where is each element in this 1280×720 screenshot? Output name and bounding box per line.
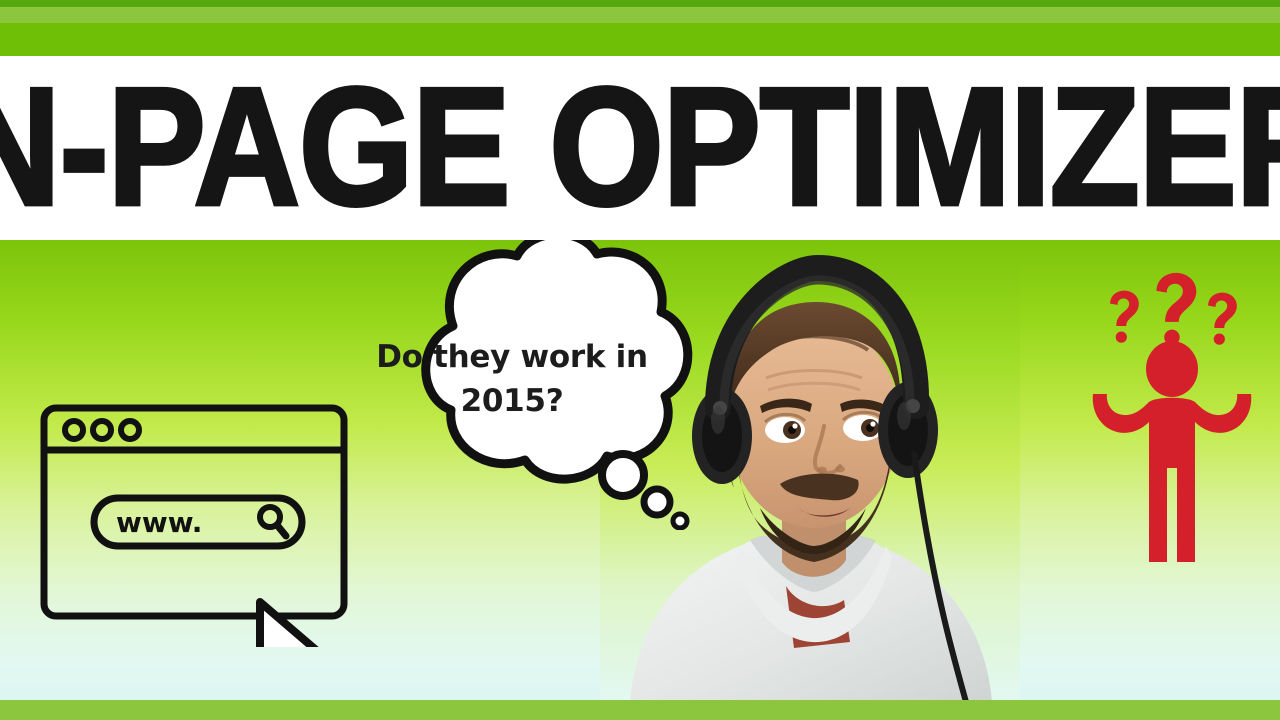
window-dot-1 [65,421,83,439]
confused-person-icon [1085,272,1260,562]
figure-head [1146,341,1198,397]
question-mark-left [1110,291,1139,343]
youtube-thumbnail: ON-PAGE OPTIMIZERS [0,0,1280,720]
main-stage: www. [0,240,1280,700]
top-stripe-mid-green [0,7,1280,23]
question-mark-right [1208,293,1237,345]
question-mark-center [1156,273,1196,345]
thought-bubble [335,240,695,530]
window-dot-3 [121,421,139,439]
thought-dot-small [673,514,687,528]
top-stripe-dark-green [0,0,1280,7]
address-bar-text: www. [116,506,266,539]
thought-dot-medium [644,489,670,515]
thought-dot-large [602,454,644,496]
bottom-stripe-green [0,700,1280,720]
top-stripe-bright-green [0,23,1280,56]
mouse-cursor-icon [260,602,323,647]
browser-window-illustration: www. [38,402,368,647]
title-band: ON-PAGE OPTIMIZERS [0,56,1280,240]
window-dot-2 [93,421,111,439]
thought-bubble-cloud [426,240,688,479]
page-title: ON-PAGE OPTIMIZERS [0,79,1280,216]
figure-body [1093,394,1252,562]
